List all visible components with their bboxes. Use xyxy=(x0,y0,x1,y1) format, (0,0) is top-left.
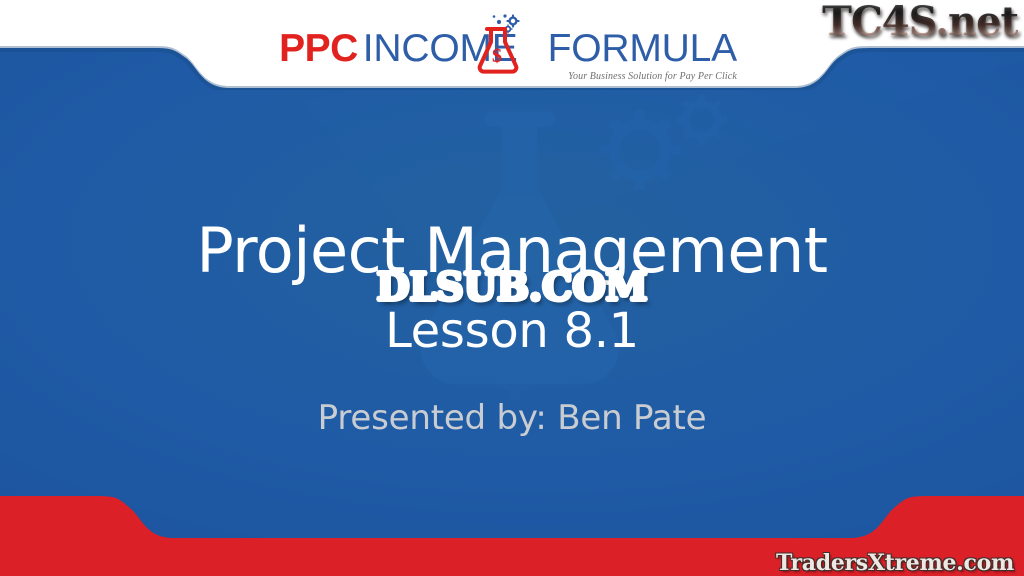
presentation-slide: PPC INCOME FORMULA xyxy=(0,0,1024,576)
logo-text-ppc: PPC xyxy=(279,29,358,68)
logo-text-formula: FORMULA xyxy=(548,29,737,68)
logo-tagline: Your Business Solution for Pay Per Click xyxy=(568,72,737,82)
svg-text:$: $ xyxy=(492,45,502,67)
flask-beaker-icon: $ xyxy=(472,12,528,74)
watermark-top-right: TC4S.net xyxy=(822,2,1018,42)
